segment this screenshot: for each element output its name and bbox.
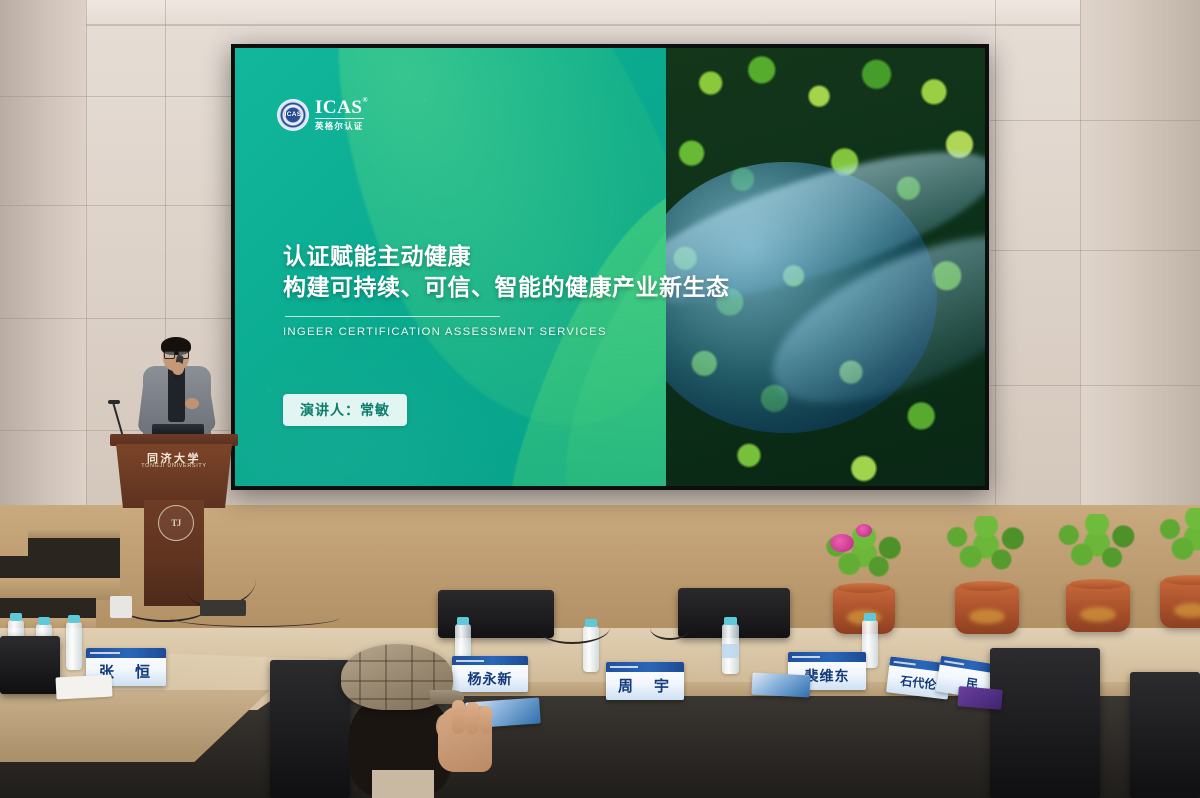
bottle-cap xyxy=(457,617,469,625)
table-monitor xyxy=(270,660,350,798)
name-card-band xyxy=(452,656,528,665)
wall-seam xyxy=(1080,0,1081,540)
bottle-label xyxy=(722,644,739,658)
plant-flower xyxy=(830,534,854,552)
foreground-finger xyxy=(466,702,479,734)
table-cable xyxy=(170,608,340,627)
foreground-finger xyxy=(452,700,465,734)
bottle-cap xyxy=(864,613,876,621)
right-wall xyxy=(1080,0,1200,560)
wall-seam xyxy=(0,96,240,97)
icas-name-cn: 英格尔认证 xyxy=(315,122,364,131)
name-card-label: 周 宇 xyxy=(606,672,684,700)
bottle-cap xyxy=(10,613,22,621)
university-seal-icon: TJ xyxy=(158,505,194,541)
plant-foliage xyxy=(938,516,1034,586)
wall-seam xyxy=(0,205,235,206)
icas-logo: ICAS ICAS® 英格尔认证 xyxy=(277,98,364,131)
icas-seal-text: ICAS xyxy=(285,111,302,118)
flower-pot xyxy=(1066,584,1130,632)
conference-photo-scene: ICAS ICAS® 英格尔认证 认证赋能主动健康 构建可持续、可信、智能的健康… xyxy=(0,0,1200,798)
table-cable xyxy=(650,616,690,640)
water-bottle xyxy=(66,622,82,670)
flower-pot xyxy=(955,586,1019,634)
wall-seam xyxy=(990,385,1200,386)
icas-seal-icon: ICAS xyxy=(277,99,309,131)
university-seal-text: TJ xyxy=(171,518,181,528)
slide-subtitle: INGEER CERTIFICATION ASSESSMENT SERVICES xyxy=(283,326,943,338)
icas-logo-text: ICAS® 英格尔认证 xyxy=(315,98,364,131)
ceiling xyxy=(0,0,1200,26)
name-card-band xyxy=(86,648,166,658)
speaker-hand-right xyxy=(185,398,199,409)
name-card-band xyxy=(788,652,866,662)
bottle-cap xyxy=(68,615,80,623)
name-card-label: 杨永新 xyxy=(452,665,528,692)
table-monitor xyxy=(0,636,60,694)
podium-university-en: TONGJI UNIVERSITY xyxy=(116,463,232,469)
bottle-cap xyxy=(724,617,737,625)
paper-slip xyxy=(55,675,112,700)
presenter-pill: 演讲人：常敏 xyxy=(283,394,407,426)
ceiling-edge xyxy=(0,24,1200,26)
slide-title-line-1: 认证赋能主动健康 xyxy=(283,241,943,272)
booklet xyxy=(957,686,1003,710)
stage-step-riser xyxy=(0,556,120,580)
name-card: 杨永新 xyxy=(452,656,528,692)
name-card-band xyxy=(606,662,684,672)
plant-flower xyxy=(856,524,872,537)
slide-divider xyxy=(285,316,500,317)
wall-seam xyxy=(0,318,232,319)
table-monitor xyxy=(1130,672,1200,798)
plant-foliage xyxy=(1050,514,1144,584)
foreground-neck xyxy=(372,770,434,798)
flower-pot xyxy=(1160,580,1200,628)
bottle-cap xyxy=(38,617,50,625)
booklet xyxy=(751,672,810,697)
speaker-hand-left xyxy=(172,362,184,375)
name-card: 周 宇 xyxy=(606,662,684,700)
foreground-finger xyxy=(480,706,492,734)
slide-title-block: 认证赋能主动健康 构建可持续、可信、智能的健康产业新生态 INGEER CERT… xyxy=(283,241,943,339)
presentation-slide: ICAS ICAS® 英格尔认证 认证赋能主动健康 构建可持续、可信、智能的健康… xyxy=(235,48,985,486)
wall-seam xyxy=(995,0,996,520)
stage-step xyxy=(28,528,120,538)
trademark-icon: ® xyxy=(362,97,368,104)
floor-box xyxy=(110,596,132,618)
table-monitor xyxy=(990,648,1100,798)
wall-seam xyxy=(990,120,1200,121)
wall-seam xyxy=(990,250,1200,251)
stage-step xyxy=(0,578,120,600)
slide-title-line-2: 构建可持续、可信、智能的健康产业新生态 xyxy=(283,272,943,303)
projection-screen-bezel: ICAS ICAS® 英格尔认证 认证赋能主动健康 构建可持续、可信、智能的健康… xyxy=(231,44,989,490)
plant-foliage xyxy=(1152,508,1200,578)
logo-divider xyxy=(315,118,364,119)
icas-name-en: ICAS® xyxy=(315,98,364,117)
